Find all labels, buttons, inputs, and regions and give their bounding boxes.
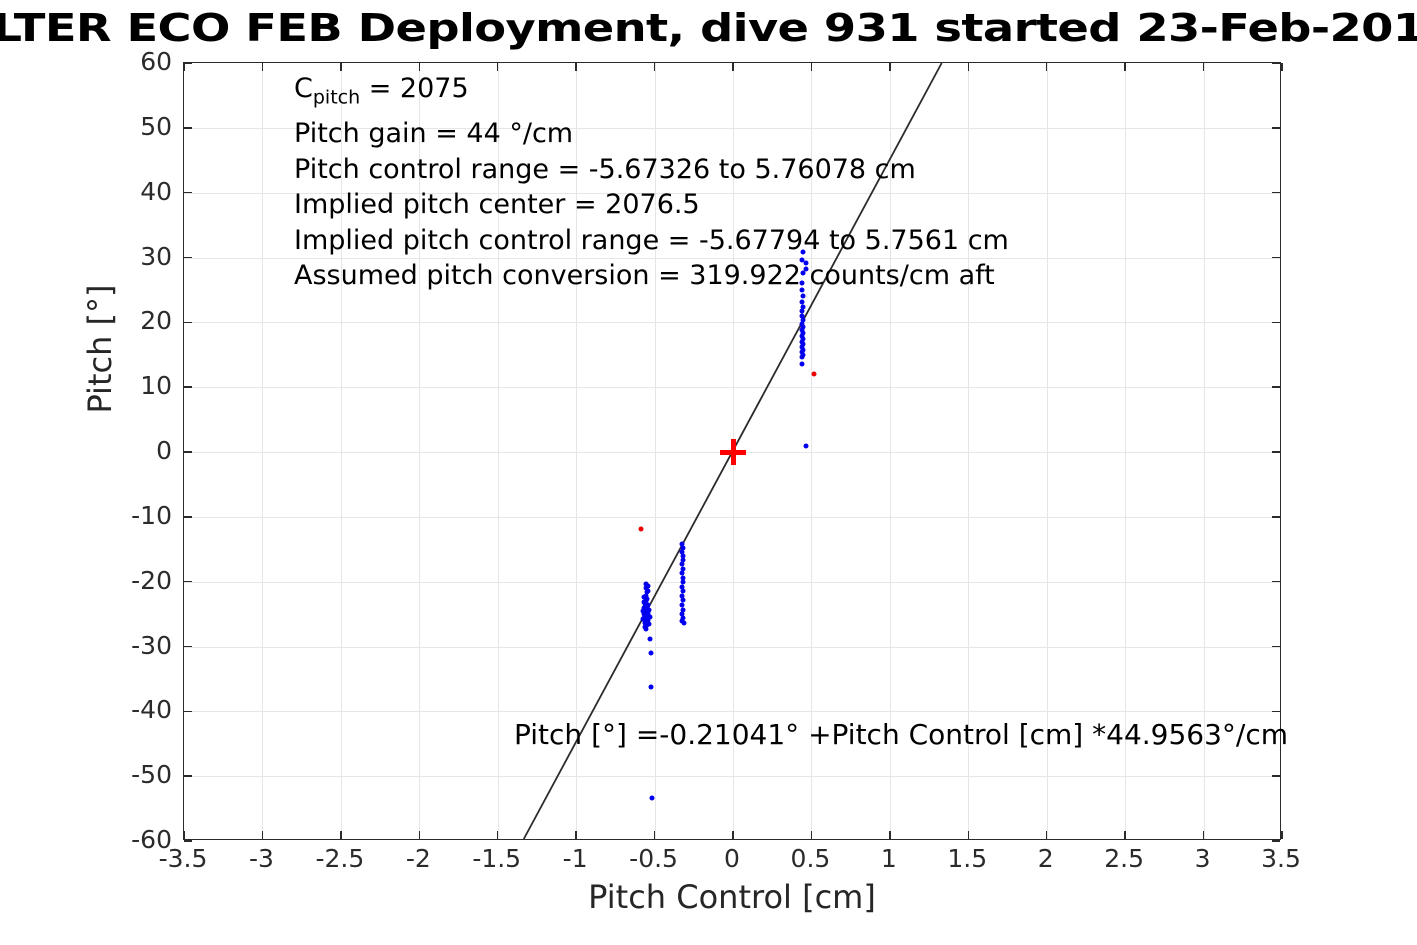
x-tick-label: 2 — [1038, 844, 1054, 874]
x-tick-label: 1.5 — [947, 844, 987, 874]
annotation-block: Cpitch = 2075 Pitch gain = 44 °/cm Pitch… — [294, 71, 1009, 294]
y-tick-right — [1272, 840, 1280, 841]
y-tick-label: 50 — [100, 112, 172, 142]
cpitch-value: = 2075 — [360, 73, 469, 104]
x-tick-label: -0.5 — [629, 844, 678, 874]
x-tick-label: 1 — [881, 844, 897, 874]
x-tick-label: -2 — [406, 844, 431, 874]
y-tick — [184, 840, 192, 841]
fit-equation-label: Pitch [°] =-0.21041° +Pitch Control [cm]… — [514, 718, 1288, 751]
y-tick-label: -40 — [100, 695, 172, 725]
x-tick-label: 0 — [724, 844, 740, 874]
x-tick-label: -1 — [563, 844, 588, 874]
annotation-line-pitch-gain: Pitch gain = 44 °/cm — [294, 116, 1009, 152]
x-tick-label: -3 — [249, 844, 274, 874]
x-tick-label: 2.5 — [1104, 844, 1144, 874]
in-plot-text-layer: Cpitch = 2075 Pitch gain = 44 °/cm Pitch… — [184, 63, 1280, 839]
x-tick — [1281, 831, 1282, 839]
y-tick-label: -10 — [100, 501, 172, 531]
y-tick-label: -30 — [100, 631, 172, 661]
annotation-line-implied-control-range: Implied pitch control range = -5.67794 t… — [294, 223, 1009, 259]
x-tick-label: -2.5 — [315, 844, 364, 874]
x-tick-label: -1.5 — [472, 844, 521, 874]
x-axis-label: Pitch Control [cm] — [183, 878, 1281, 916]
annotation-line-cpitch: Cpitch = 2075 — [294, 71, 1009, 116]
annotation-line-assumed-conversion: Assumed pitch conversion = 319.922 count… — [294, 258, 1009, 294]
x-tick-top — [1281, 63, 1282, 71]
y-tick-label: 40 — [100, 177, 172, 207]
y-tick-label: 60 — [100, 47, 172, 77]
y-tick-label: 0 — [100, 436, 172, 466]
y-tick-label: 30 — [100, 242, 172, 272]
x-tick-label: 3 — [1195, 844, 1211, 874]
x-tick-label: 0.5 — [791, 844, 831, 874]
y-tick-label: -50 — [100, 760, 172, 790]
y-tick-label: 20 — [100, 306, 172, 336]
y-tick-label: 10 — [100, 371, 172, 401]
figure-title: LTER ECO FEB Deployment, dive 931 starte… — [0, 2, 1417, 54]
cpitch-symbol: C — [294, 73, 313, 104]
plot-axes: Cpitch = 2075 Pitch gain = 44 °/cm Pitch… — [183, 62, 1281, 840]
cpitch-subscript: pitch — [313, 87, 360, 109]
y-tick-label: -20 — [100, 566, 172, 596]
y-tick-label: -60 — [100, 825, 172, 855]
annotation-line-implied-pitch-center: Implied pitch center = 2076.5 — [294, 187, 1009, 223]
x-tick-label: 3.5 — [1261, 844, 1301, 874]
annotation-line-pitch-control-range: Pitch control range = -5.67326 to 5.7607… — [294, 152, 1009, 188]
